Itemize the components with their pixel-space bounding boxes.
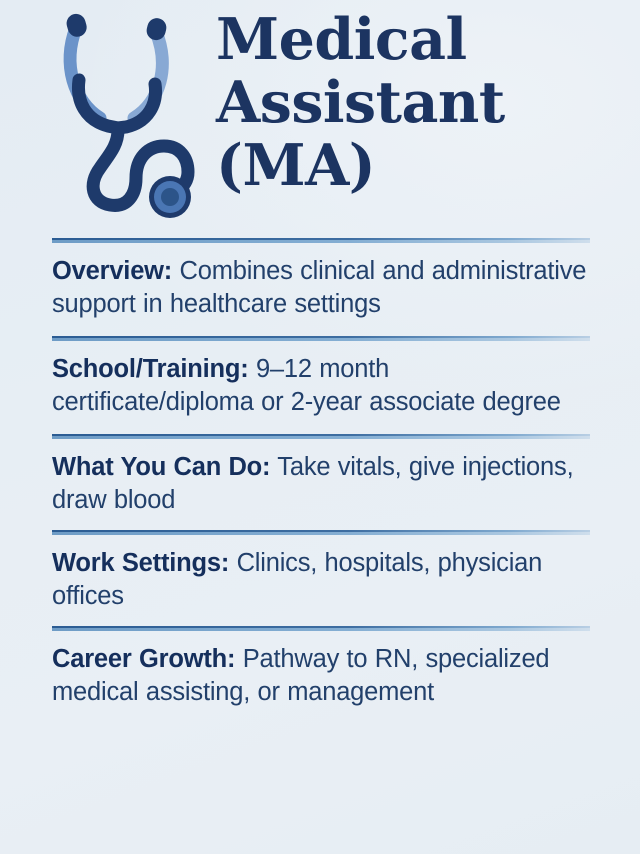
section-what-you-can-do: What You Can Do: Take vitals, give injec…	[0, 434, 640, 530]
section-body: Career Growth: Pathway to RN, specialize…	[52, 631, 590, 719]
section-body: Work Settings: Clinics, hospitals, physi…	[52, 535, 590, 626]
section-divider	[52, 626, 590, 631]
infographic-card: Medical Assistant (MA) Overview: Combine…	[0, 0, 640, 854]
sections-list: Overview: Combines clinical and administ…	[0, 238, 640, 719]
header: Medical Assistant (MA)	[0, 0, 640, 236]
section-body: What You Can Do: Take vitals, give injec…	[52, 439, 590, 530]
page-title: Medical Assistant (MA)	[216, 8, 616, 197]
section-school-training: School/Training: 9–12 month certificate/…	[0, 336, 640, 434]
title-line-1: Medical	[216, 8, 616, 71]
section-body: Overview: Combines clinical and administ…	[52, 243, 590, 336]
title-line-2: Assistant	[216, 71, 616, 134]
title-line-3: (MA)	[216, 134, 616, 197]
section-divider	[52, 530, 590, 535]
section-label: Overview:	[52, 257, 172, 285]
section-label: School/Training:	[52, 355, 249, 383]
section-divider	[52, 238, 590, 243]
section-label: What You Can Do:	[52, 453, 270, 481]
section-label: Work Settings:	[52, 549, 229, 577]
section-career-growth: Career Growth: Pathway to RN, specialize…	[0, 626, 640, 719]
section-label: Career Growth:	[52, 645, 235, 673]
section-divider	[52, 336, 590, 341]
section-divider	[52, 434, 590, 439]
section-body: School/Training: 9–12 month certificate/…	[52, 341, 590, 434]
section-overview: Overview: Combines clinical and administ…	[0, 238, 640, 336]
stethoscope-icon	[52, 6, 212, 218]
section-work-settings: Work Settings: Clinics, hospitals, physi…	[0, 530, 640, 626]
